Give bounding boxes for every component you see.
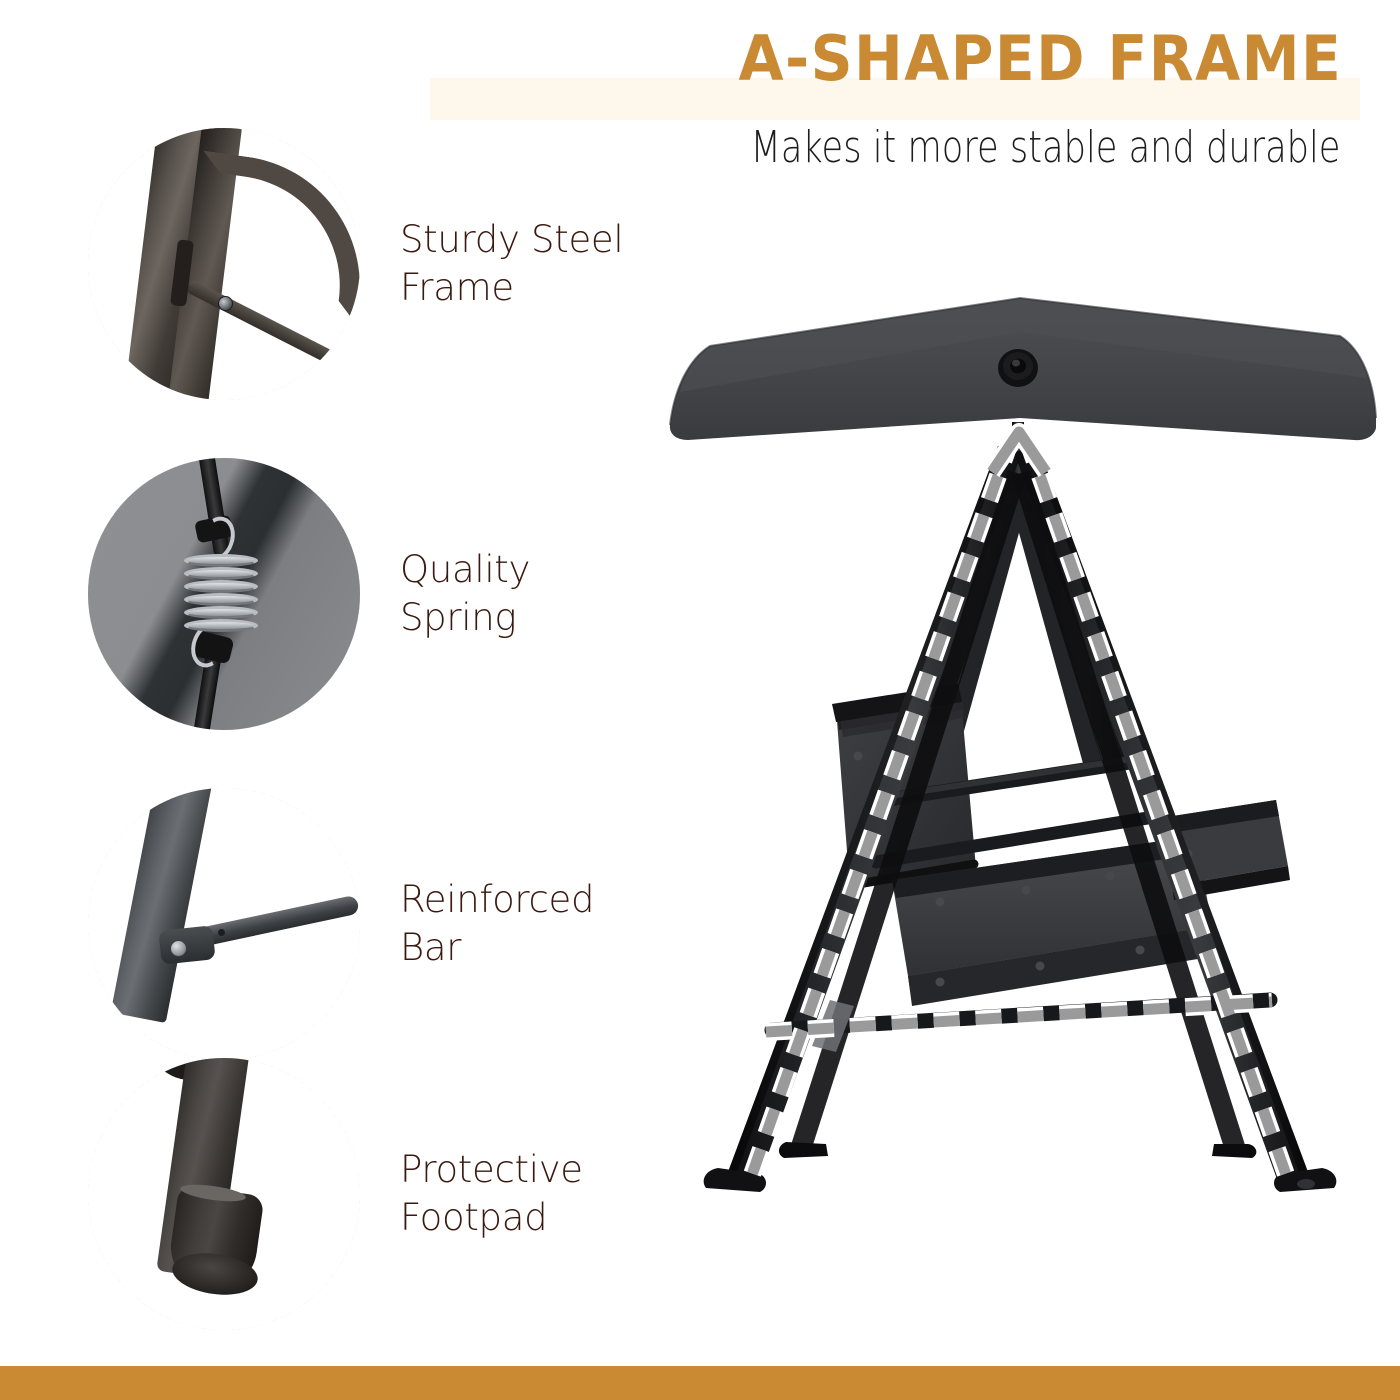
page-subtitle: Makes it more stable and durable <box>750 126 1340 170</box>
page-title: A-SHAPED FRAME <box>738 28 1342 90</box>
canopy-knob-icon <box>998 349 1038 387</box>
feature-label: Protective Footpad <box>400 1146 583 1242</box>
reinforced-bar-icon <box>88 788 360 1060</box>
feature-photo-circle <box>88 788 360 1060</box>
feature-item-protective-footpad: Protective Footpad <box>88 1058 708 1330</box>
product-image-swing-chair <box>640 240 1400 1320</box>
feature-item-quality-spring: Quality Spring <box>88 458 708 730</box>
feature-photo-circle <box>88 458 360 730</box>
feature-item-reinforced-bar: Reinforced Bar <box>88 788 708 1060</box>
spring-hook-icon <box>88 458 360 730</box>
steel-frame-joint-icon <box>88 128 360 400</box>
feature-photo-circle <box>88 1058 360 1330</box>
feature-item-sturdy-steel-frame: Sturdy Steel Frame <box>88 128 708 400</box>
footer-accent-bar <box>0 1366 1400 1400</box>
feature-photo-circle <box>88 128 360 400</box>
feature-label: Reinforced Bar <box>400 876 594 972</box>
feature-label: Quality Spring <box>400 546 530 642</box>
feature-label: Sturdy Steel Frame <box>400 216 623 312</box>
protective-footpad-icon <box>88 1058 360 1330</box>
